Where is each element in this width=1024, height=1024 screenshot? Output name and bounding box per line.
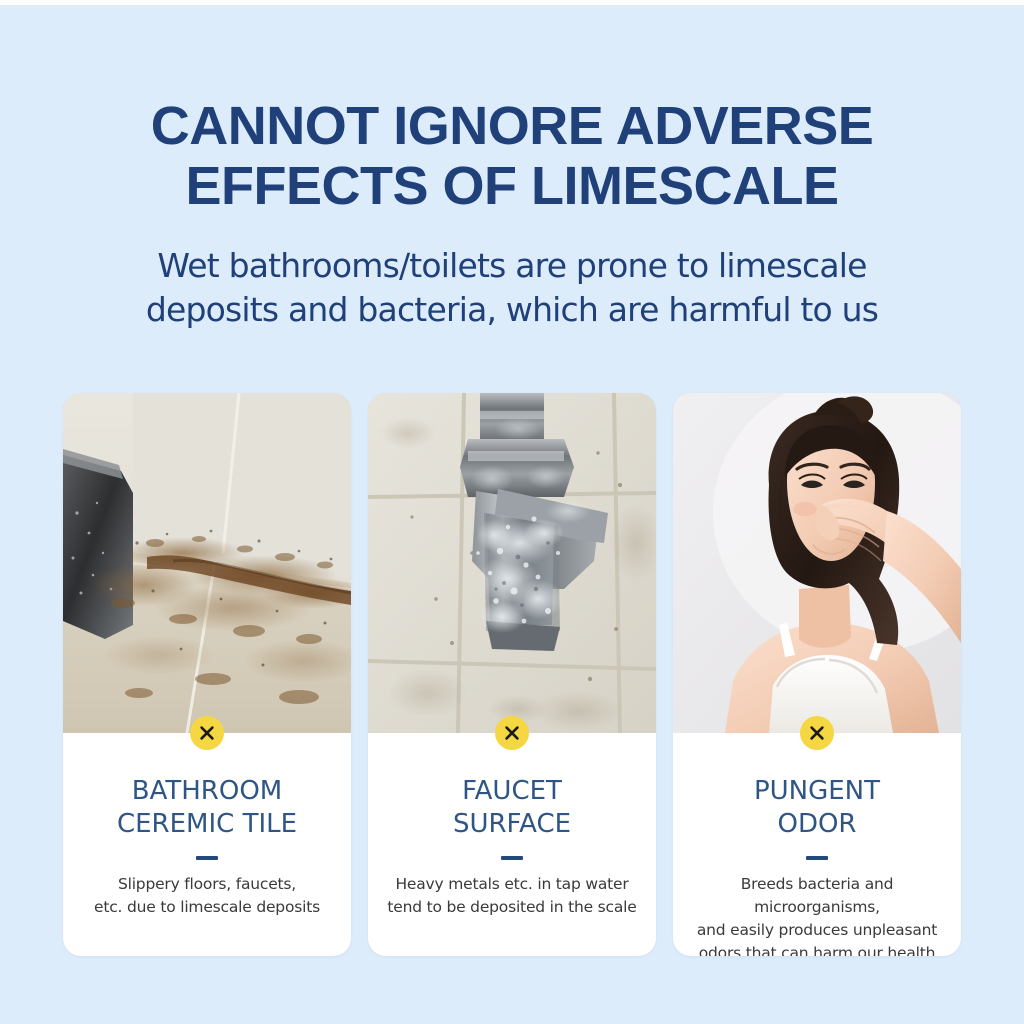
heading-divider [196, 856, 218, 860]
card-body-pungent-odor: PUNGENT ODOR Breeds bacteria and microor… [673, 733, 961, 956]
card-description-line-1: Slippery floors, faucets, [77, 873, 337, 896]
card-bathroom-ceremic-tile[interactable]: BATHROOM CEREMIC TILE Slippery floors, f… [63, 393, 351, 956]
header-section: CANNOT IGNORE ADVERSE EFFECTS OF LIMESCA… [0, 0, 1024, 332]
card-heading-line-1: BATHROOM [77, 775, 337, 808]
card-pungent-odor[interactable]: PUNGENT ODOR Breeds bacteria and microor… [673, 393, 961, 956]
infographic-page: CANNOT IGNORE ADVERSE EFFECTS OF LIMESCA… [0, 0, 1024, 1024]
card-description-line-2: and easily produces unpleasant [687, 919, 947, 942]
heading-divider [806, 856, 828, 860]
card-description-line-2: etc. due to limescale deposits [77, 896, 337, 919]
card-heading: PUNGENT ODOR [687, 775, 947, 841]
page-title-line-2: EFFECTS OF LIMESCALE [0, 156, 1024, 216]
page-title-line-1: CANNOT IGNORE ADVERSE [0, 96, 1024, 156]
card-body-faucet: FAUCET SURFACE Heavy metals etc. in tap … [368, 733, 656, 919]
page-subtitle: Wet bathrooms/toilets are prone to limes… [0, 244, 1024, 332]
card-photo-woman-pinching-nose [673, 393, 961, 733]
card-description: Heavy metals etc. in tap water tend to b… [382, 873, 642, 919]
card-heading-line-2: CEREMIC TILE [77, 808, 337, 841]
x-mark-icon [800, 716, 834, 750]
page-subtitle-line-2: deposits and bacteria, which are harmful… [0, 288, 1024, 332]
x-mark-icon [495, 716, 529, 750]
card-description-line-3: odors that can harm our health [687, 942, 947, 956]
page-subtitle-line-1: Wet bathrooms/toilets are prone to limes… [0, 244, 1024, 288]
cards-row: BATHROOM CEREMIC TILE Slippery floors, f… [63, 393, 961, 956]
card-description: Slippery floors, faucets, etc. due to li… [77, 873, 337, 919]
card-body-bathroom-tile: BATHROOM CEREMIC TILE Slippery floors, f… [63, 733, 351, 919]
card-description-line-2: tend to be deposited in the scale [382, 896, 642, 919]
card-heading: FAUCET SURFACE [382, 775, 642, 841]
heading-divider [501, 856, 523, 860]
card-photo-faucet [368, 393, 656, 733]
card-description-line-1: Heavy metals etc. in tap water [382, 873, 642, 896]
card-heading-line-2: SURFACE [382, 808, 642, 841]
card-description: Breeds bacteria and microorganisms, and … [687, 873, 947, 956]
card-heading-line-1: PUNGENT [687, 775, 947, 808]
card-heading-line-2: ODOR [687, 808, 947, 841]
card-faucet-surface[interactable]: FAUCET SURFACE Heavy metals etc. in tap … [368, 393, 656, 956]
card-heading: BATHROOM CEREMIC TILE [77, 775, 337, 841]
card-heading-line-1: FAUCET [382, 775, 642, 808]
card-photo-bathroom-tile [63, 393, 351, 733]
page-title: CANNOT IGNORE ADVERSE EFFECTS OF LIMESCA… [0, 96, 1024, 216]
x-mark-icon [190, 716, 224, 750]
card-description-line-1: Breeds bacteria and microorganisms, [687, 873, 947, 919]
